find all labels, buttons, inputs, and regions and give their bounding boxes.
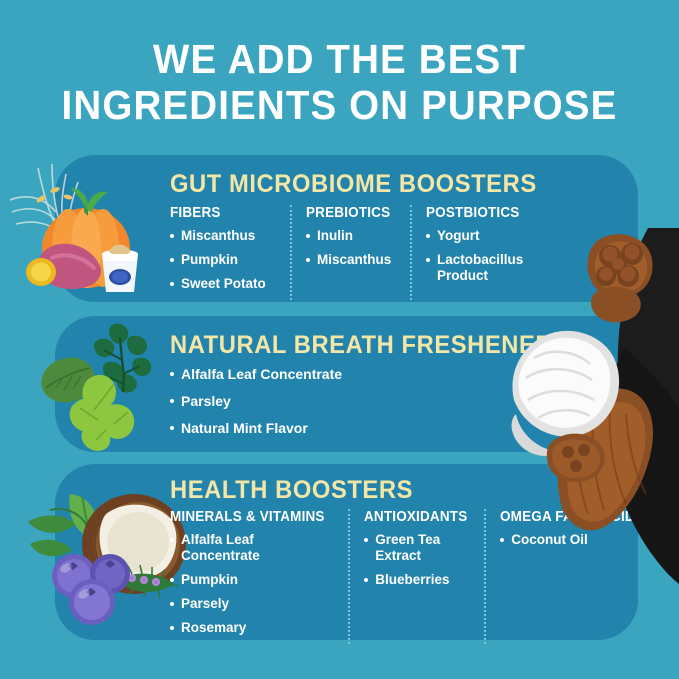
column-heading-minerals-and-vitamins: MINERALS & VITAMINS — [170, 509, 325, 525]
list-item: Alfalfa Leaf Concentrate — [170, 532, 336, 564]
page-title: WE ADD THE BEST INGREDIENTS ON PURPOSE — [20, 36, 658, 128]
list-item: Natural Mint Flavor — [170, 420, 500, 436]
ingredient-list-postbiotics: Yogurt Lactobacillus Product — [426, 228, 546, 284]
list-item: Sweet Potato — [170, 276, 278, 292]
column-prebiotics: PREBIOTICS Inulin Miscanthus — [290, 205, 410, 300]
title-line-1: WE ADD THE BEST — [153, 36, 526, 82]
section-heading-natural-breath-fresheners: NATURAL BREATH FRESHENERS — [170, 331, 570, 360]
column-omega-fatty-acids: OMEGA FATTY ACIDS Coconut Oil — [484, 509, 662, 644]
list-item: Pumpkin — [170, 252, 278, 268]
list-item: Miscanthus — [170, 228, 278, 244]
column-heading-antioxidants: ANTIOXIDANTS — [364, 509, 464, 525]
infographic-canvas: WE ADD THE BEST INGREDIENTS ON PURPOSE — [0, 0, 679, 679]
ingredient-list-omega-fatty-acids: Coconut Oil — [500, 532, 650, 548]
list-item: Lactobacillus Product — [426, 252, 546, 284]
column-heading-omega-fatty-acids: OMEGA FATTY ACIDS — [500, 509, 640, 525]
section-heading-gut-microbiome-boosters: GUT MICROBIOME BOOSTERS — [170, 170, 537, 199]
column-heading-prebiotics: PREBIOTICS — [306, 205, 392, 221]
list-item: Green Tea Extract — [364, 532, 472, 564]
list-item: Parsley — [170, 393, 500, 409]
ingredient-list-minerals-and-vitamins: Alfalfa Leaf Concentrate Pumpkin Parsely… — [170, 532, 336, 636]
column-fibers: FIBERS Miscanthus Pumpkin Sweet Potato — [170, 205, 290, 300]
list-item: Inulin — [306, 228, 398, 244]
list-item: Yogurt — [426, 228, 546, 244]
title-line-2: INGREDIENTS ON PURPOSE — [20, 82, 658, 128]
ingredient-list-fibers: Miscanthus Pumpkin Sweet Potato — [170, 228, 278, 292]
list-item: Miscanthus — [306, 252, 398, 268]
ingredient-list-natural-breath-fresheners: Alfalfa Leaf Concentrate Parsley Natural… — [170, 366, 500, 447]
column-antioxidants: ANTIOXIDANTS Green Tea Extract Blueberri… — [348, 509, 484, 644]
ingredient-list-antioxidants: Green Tea Extract Blueberries — [364, 532, 472, 588]
list-item: Blueberries — [364, 572, 472, 588]
list-item: Coconut Oil — [500, 532, 650, 548]
section-heading-health-boosters: HEALTH BOOSTERS — [170, 476, 413, 505]
list-item: Rosemary — [170, 620, 336, 636]
list-item: Alfalfa Leaf Concentrate — [170, 366, 500, 382]
section-columns-gut-microbiome-boosters: FIBERS Miscanthus Pumpkin Sweet Potato P… — [170, 205, 625, 300]
section-columns-health-boosters: MINERALS & VITAMINS Alfalfa Leaf Concent… — [170, 509, 630, 644]
list-item: Parsely — [170, 596, 336, 612]
column-postbiotics: POSTBIOTICS Yogurt Lactobacillus Product — [410, 205, 558, 300]
column-minerals-and-vitamins: MINERALS & VITAMINS Alfalfa Leaf Concent… — [170, 509, 348, 644]
column-heading-fibers: FIBERS — [170, 205, 270, 221]
ingredient-list-prebiotics: Inulin Miscanthus — [306, 228, 398, 268]
column-heading-postbiotics: POSTBIOTICS — [426, 205, 538, 221]
list-item: Pumpkin — [170, 572, 336, 588]
